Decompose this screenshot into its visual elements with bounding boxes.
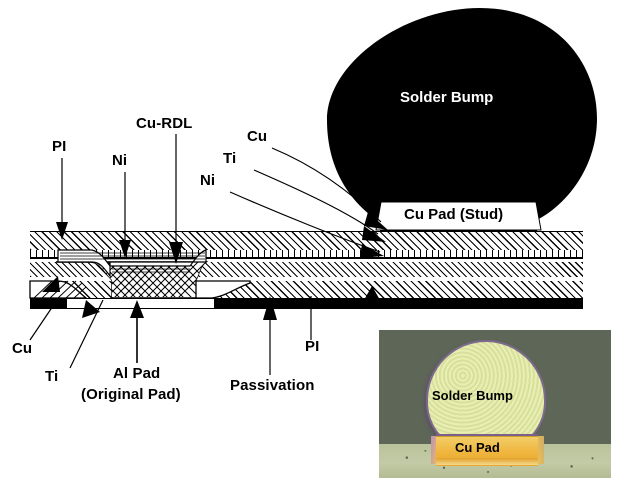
- label-pi-bottom: PI: [305, 338, 319, 355]
- label-ti-mid: Ti: [223, 150, 236, 167]
- inset-photo: Solder Bump Cu Pad: [379, 330, 611, 478]
- label-al-pad: Al Pad: [113, 365, 160, 382]
- label-ti-bottom: Ti: [45, 368, 58, 385]
- arrow-al-pad: [130, 300, 144, 318]
- label-ni-top: Ni: [112, 152, 127, 169]
- label-original-pad: (Original Pad): [81, 386, 181, 403]
- arrow-ni-mid: [360, 244, 384, 258]
- photo-cu-pad-base: [436, 458, 538, 465]
- label-pi-top: PI: [52, 138, 66, 155]
- figure-canvas: Solder Bump Cu Pad (Stud): [0, 0, 617, 486]
- label-cu-bottom: Cu: [12, 340, 32, 357]
- arrow-right-stack: [364, 286, 380, 300]
- photo-solder-bump-label: Solder Bump: [432, 388, 513, 403]
- arrow-ti-bottom: [82, 300, 100, 318]
- label-ni-mid: Ni: [200, 172, 215, 189]
- label-cu-rdl: Cu-RDL: [136, 115, 192, 132]
- arrow-cu-skirt: [42, 276, 60, 292]
- leader-cu-bottom: [30, 300, 57, 340]
- photo-cu-pad-label: Cu Pad: [455, 440, 500, 455]
- arrow-cu-rdl: [169, 242, 183, 264]
- arrow-ni-top: [119, 240, 131, 258]
- arrow-passivation: [263, 296, 277, 320]
- label-cu-mid: Cu: [247, 128, 267, 145]
- arrow-pi-top: [56, 222, 68, 240]
- label-passivation: Passivation: [230, 377, 314, 394]
